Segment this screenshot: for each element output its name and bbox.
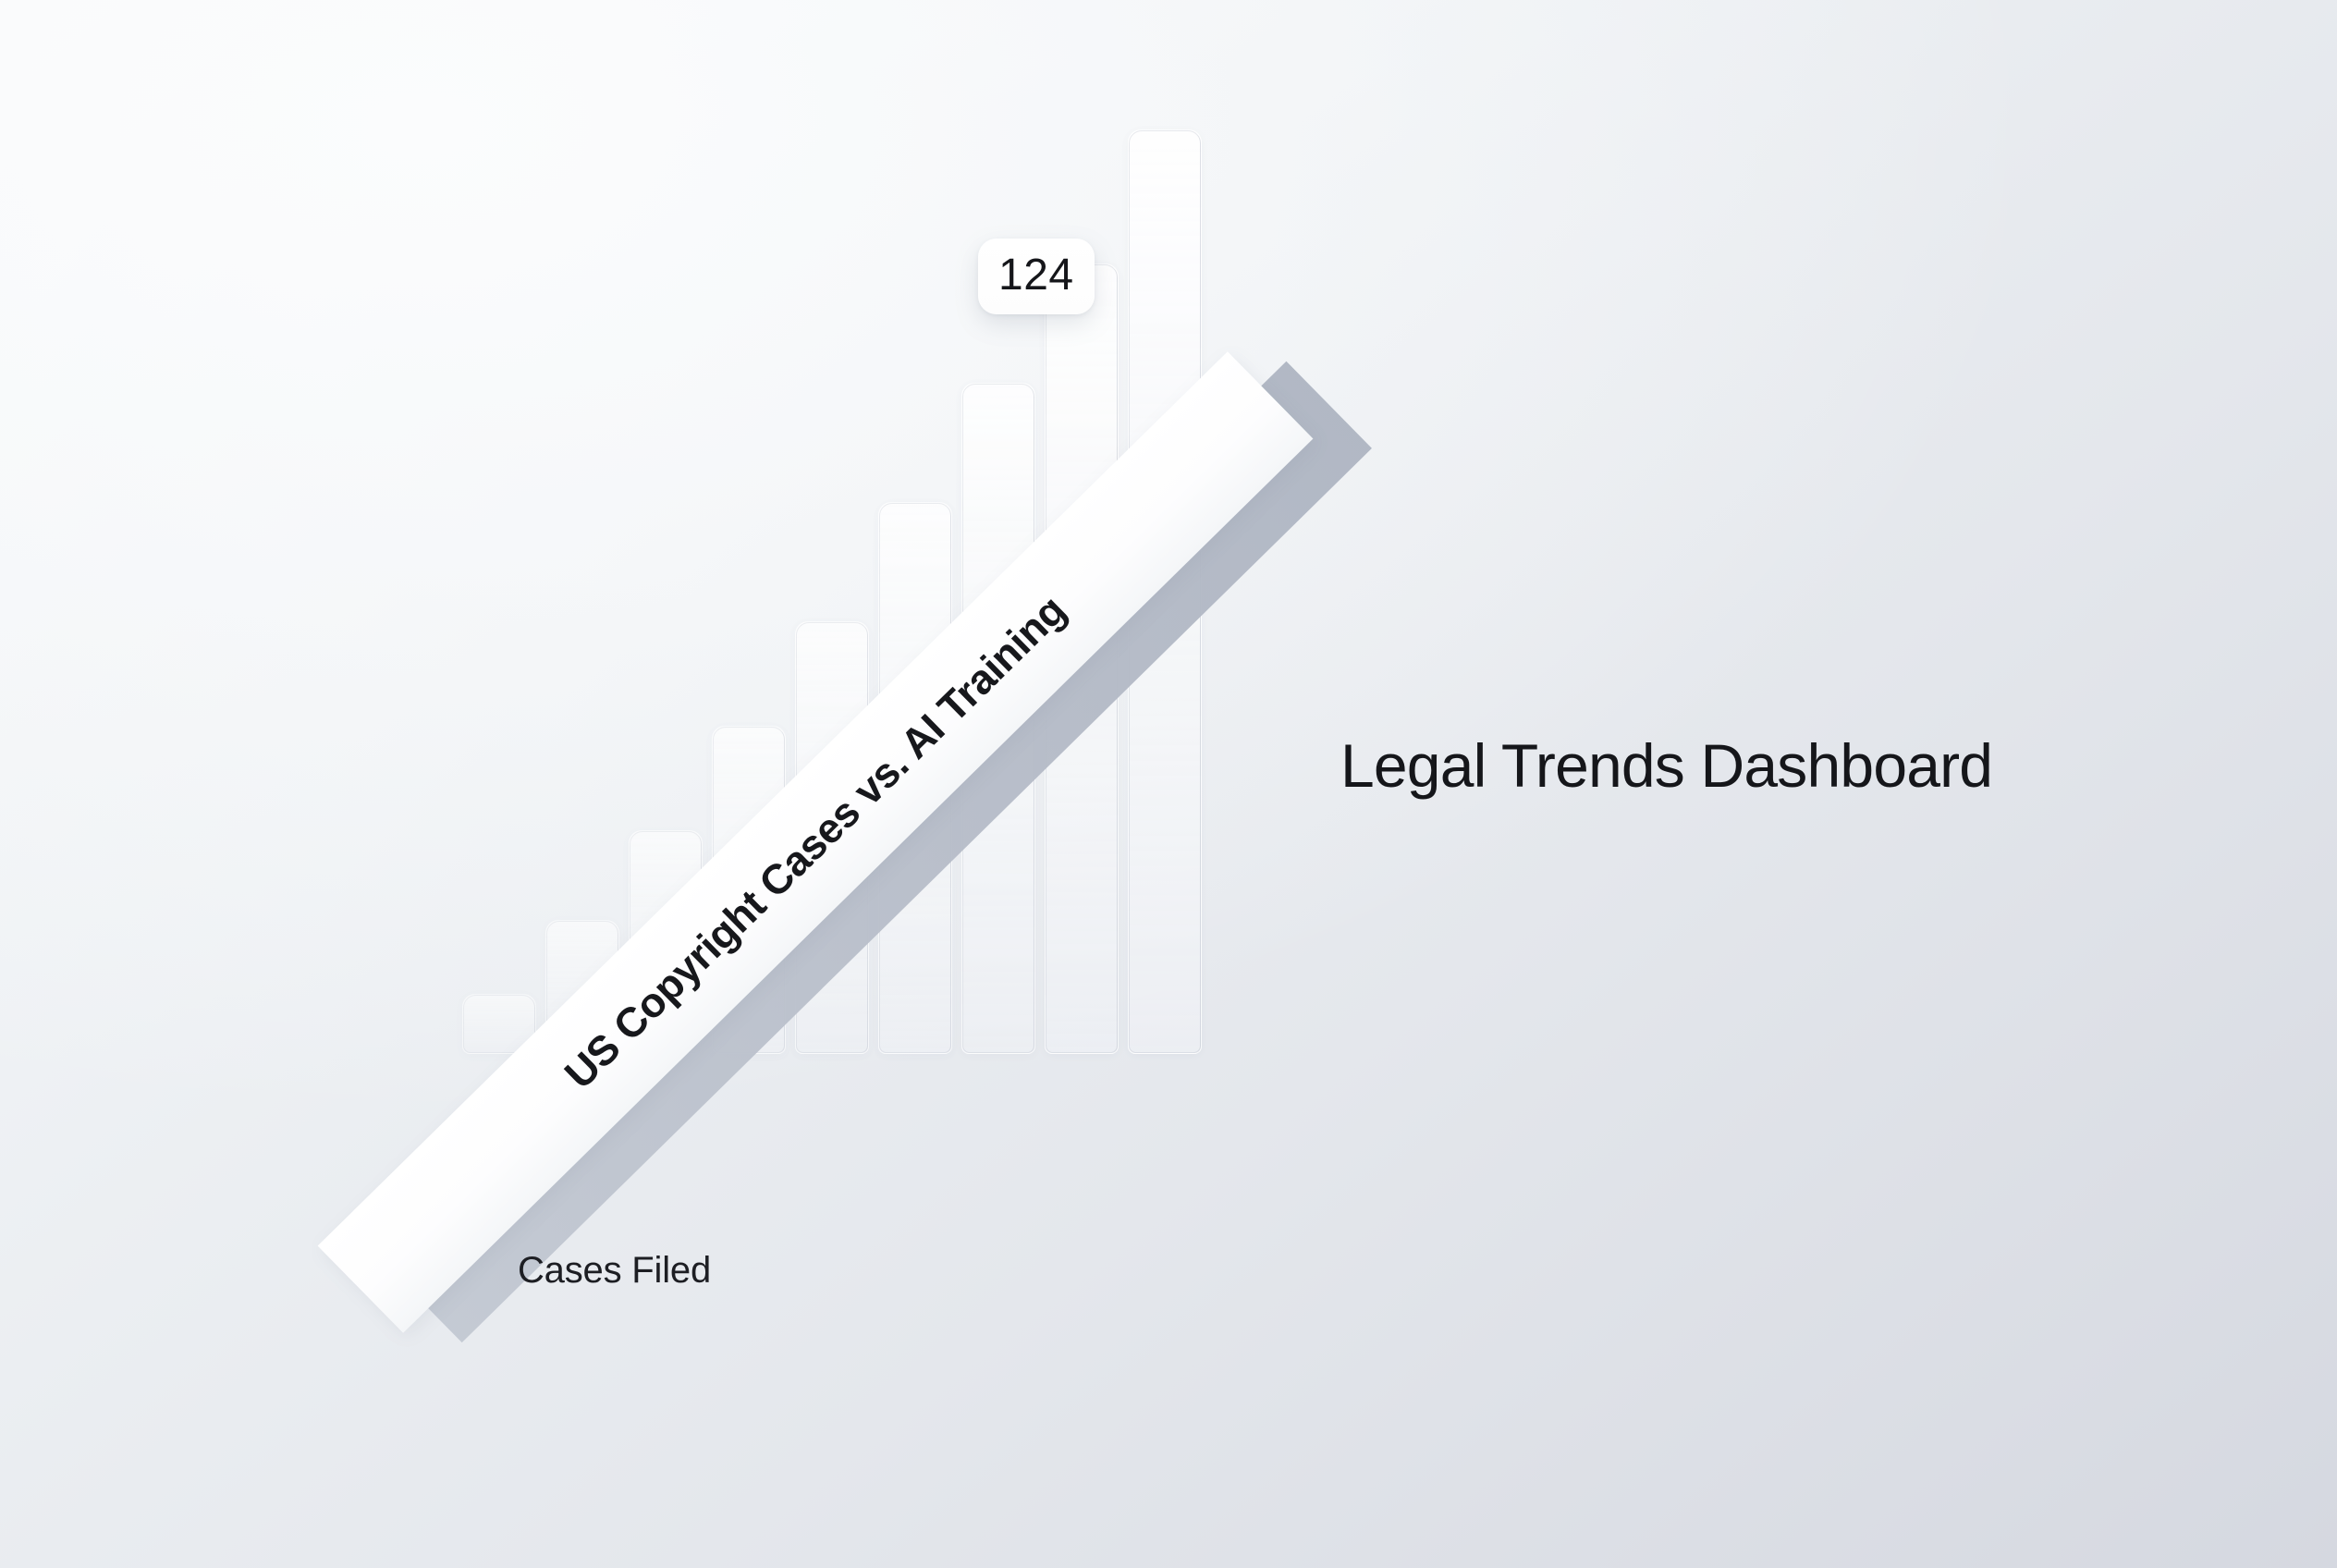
peak-value-text: 124 [998, 251, 1074, 300]
dashboard-canvas: US Copyright Cases vs. AI Training 124 C… [0, 0, 2337, 1568]
bar-chart[interactable]: US Copyright Cases vs. AI Training [277, 277, 1257, 1313]
page-title: Legal Trends Dashboard [1340, 730, 1992, 801]
peak-value-badge[interactable]: 124 [978, 239, 1095, 314]
x-axis-label: Cases Filed [518, 1250, 711, 1292]
